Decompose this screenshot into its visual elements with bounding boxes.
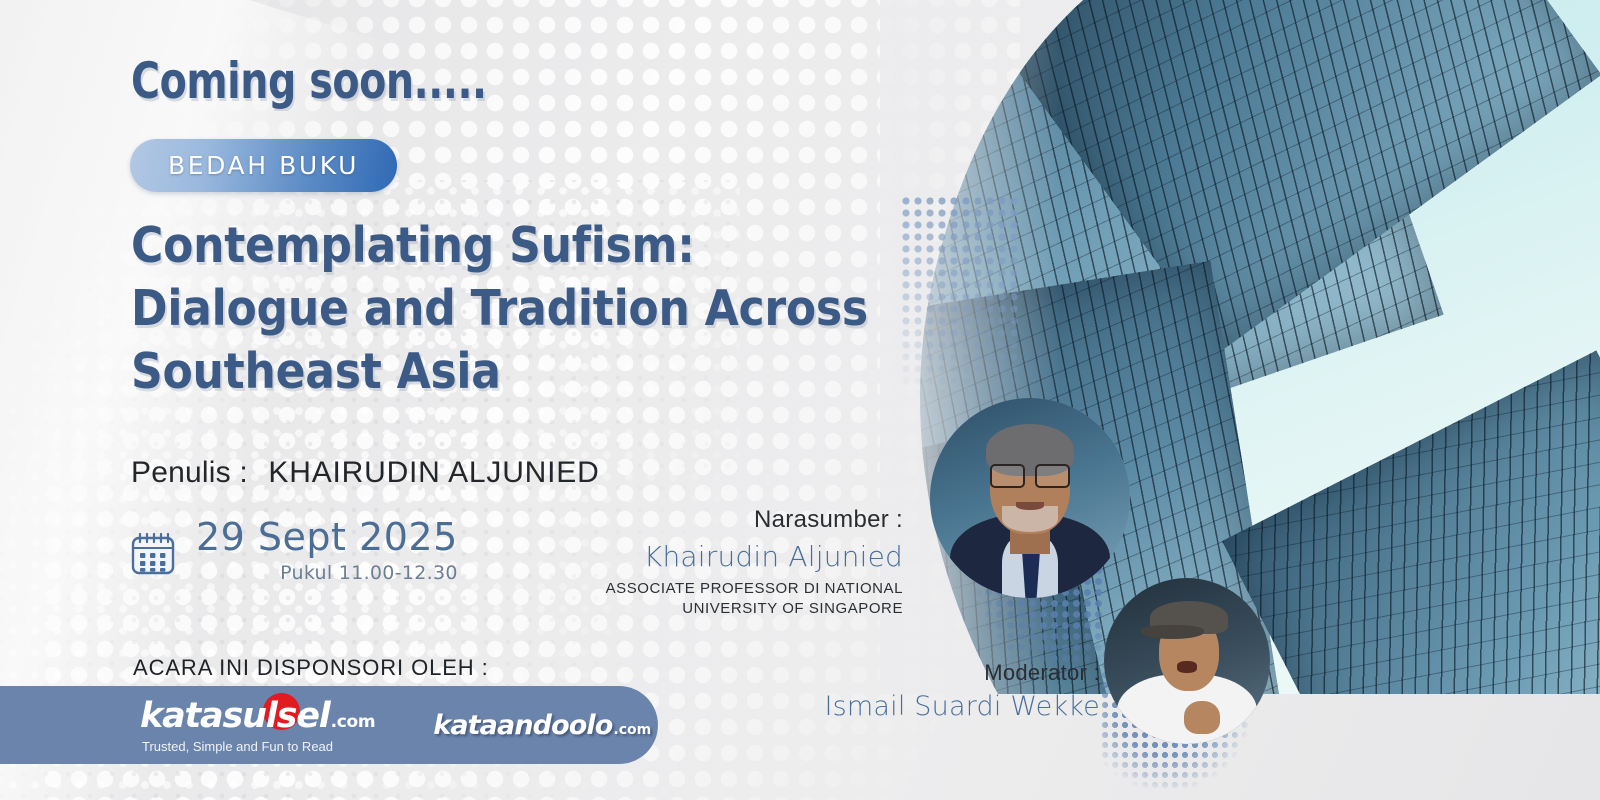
badge-label: BEDAH BUKU [168, 151, 359, 180]
speaker-affiliation: ASSOCIATE PROFESSOR DI NATIONAL UNIVERSI… [555, 579, 903, 620]
speaker-affiliation-line-2: UNIVERSITY OF SINGAPORE [682, 600, 903, 617]
event-date: 29 Sept 2025 [196, 518, 458, 556]
sponsor-bar: katasulsel .com Trusted, Simple and Fun … [0, 686, 658, 764]
title-line-2: Dialogue and Tradition Across [131, 277, 851, 340]
title-line-3: Southeast Asia [131, 340, 851, 403]
date-block: 29 Sept 2025 Pukul 11.00-12.30 [196, 518, 458, 584]
kataandoolo-domain-suffix: .com [613, 722, 651, 738]
author-label: Penulis : [131, 456, 248, 489]
sponsor-label: ACARA INI DISPONSORI OLEH : [133, 655, 489, 681]
speaker-name: Khairudin Aljunied [555, 540, 903, 573]
kataandoolo-logo[interactable]: kataandoolo .com [433, 710, 651, 741]
author-name: KHAIRUDIN ALJUNIED [268, 456, 599, 489]
katasulsel-wordmark-row: katasulsel .com [140, 696, 375, 736]
katasulsel-wordmark: katasulsel [140, 696, 330, 736]
author-row: Penulis : KHAIRUDIN ALJUNIED [131, 456, 600, 490]
book-title: Contemplating Sufism: Dialogue and Tradi… [131, 214, 851, 404]
bedah-buku-badge: BEDAH BUKU [130, 139, 397, 192]
event-date-row: 29 Sept 2025 Pukul 11.00-12.30 [128, 518, 458, 584]
kataandoolo-wordmark: kataandoolo [433, 710, 612, 741]
speaker-role-label: Narasumber : [555, 506, 903, 534]
moderator-photo [1104, 578, 1270, 744]
speaker-portrait [930, 398, 1130, 598]
event-time: Pukul 11.00-12.30 [280, 562, 458, 584]
speaker-photo [930, 398, 1130, 598]
event-banner: Coming soon..... BEDAH BUKU Contemplatin… [0, 0, 1600, 800]
moderator-portrait [1104, 578, 1270, 744]
speaker-info: Narasumber : Khairudin Aljunied ASSOCIAT… [555, 506, 903, 620]
coming-soon-kicker: Coming soon..... [131, 52, 487, 110]
moderator-name: Ismail Suardi Wekke [740, 691, 1100, 722]
eyeglasses-icon [990, 464, 1070, 488]
speaker-affiliation-line-1: ASSOCIATE PROFESSOR DI NATIONAL [606, 580, 903, 597]
calendar-icon [128, 528, 178, 583]
katasulsel-tagline: Trusted, Simple and Fun to Read [142, 739, 333, 754]
moderator-role-label: Moderator : [740, 660, 1100, 686]
title-line-1: Contemplating Sufism: [131, 214, 851, 277]
katasulsel-domain-suffix: .com [331, 712, 376, 732]
katasulsel-logo[interactable]: katasulsel .com Trusted, Simple and Fun … [140, 696, 375, 754]
moderator-info: Moderator : Ismail Suardi Wekke [740, 660, 1100, 722]
